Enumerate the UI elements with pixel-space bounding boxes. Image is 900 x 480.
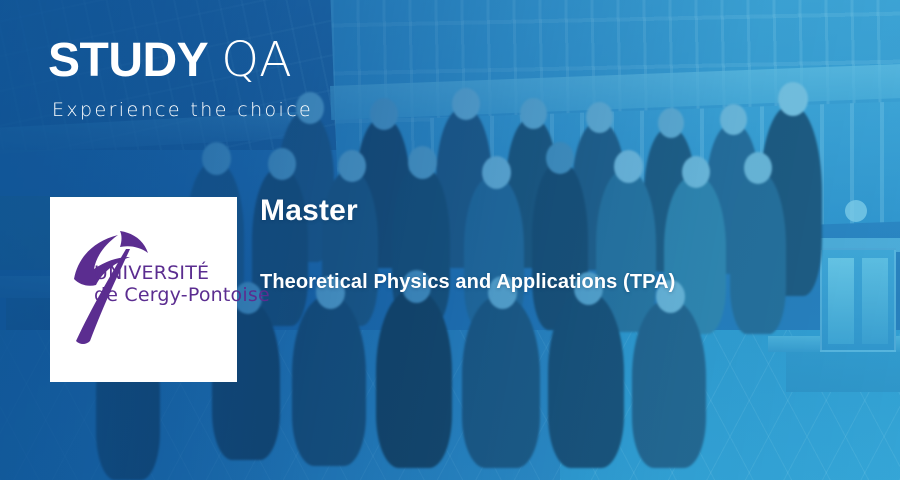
studyqa-logo[interactable]: STUDY QA Experience the choice bbox=[48, 36, 313, 121]
university-logo: UNIVERSITÉ de Cergy-Pontoise bbox=[50, 197, 250, 382]
studyqa-wordmark: STUDY QA bbox=[48, 36, 313, 85]
university-name-line2: de Cergy-Pontoise bbox=[94, 285, 270, 306]
program-titles: Master Theoretical Physics and Applicati… bbox=[260, 196, 675, 294]
studyqa-tagline: Experience the choice bbox=[52, 99, 313, 121]
university-name-line1: UNIVERSITÉ bbox=[94, 263, 270, 284]
studyqa-logo-qa: QA bbox=[221, 36, 292, 84]
university-name: UNIVERSITÉ de Cergy-Pontoise bbox=[94, 263, 270, 307]
program-banner: STUDY QA Experience the choice bbox=[0, 0, 900, 480]
university-logo-card: UNIVERSITÉ de Cergy-Pontoise bbox=[50, 197, 237, 382]
studyqa-logo-study: STUDY bbox=[48, 37, 208, 85]
program-name: Theoretical Physics and Applications (TP… bbox=[260, 270, 675, 294]
degree-level: Master bbox=[260, 196, 675, 226]
